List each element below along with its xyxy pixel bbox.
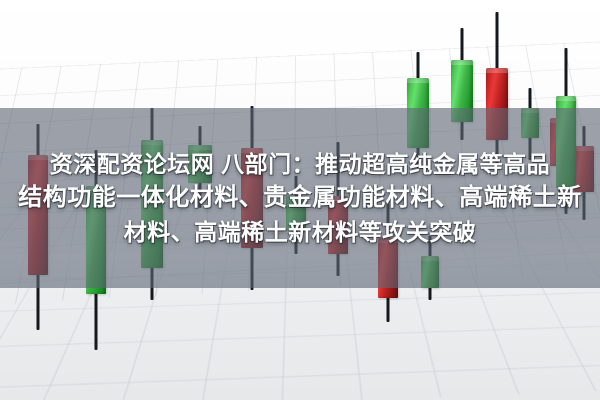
banner-image: 资深配资论坛网 八部门：推动超高纯金属等高品 结构功能一体化材料、贵金属功能材料…	[0, 0, 600, 400]
headline-line-3: 材料、高端稀土新材料等攻关突破	[124, 215, 477, 249]
headline-overlay-band: 资深配资论坛网 八部门：推动超高纯金属等高品 结构功能一体化材料、贵金属功能材料…	[0, 108, 600, 288]
headline-line-2: 结构功能一体化材料、贵金属功能材料、高端稀土新	[18, 181, 582, 215]
headline-line-1: 资深配资论坛网 八部门：推动超高纯金属等高品	[50, 147, 550, 181]
